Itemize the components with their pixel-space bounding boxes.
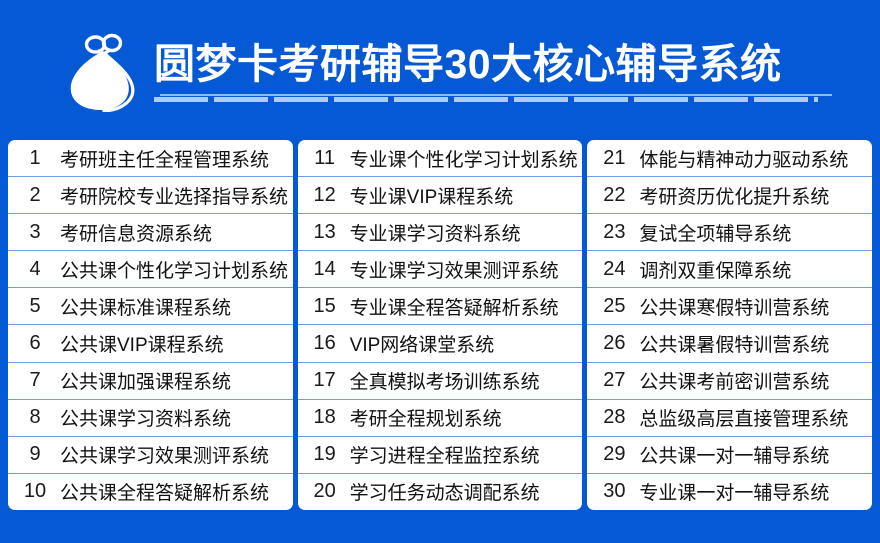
row-label: 公共课暑假特训营系统 bbox=[637, 330, 868, 357]
row-number: 17 bbox=[302, 369, 348, 392]
table-row[interactable]: 8公共课学习资料系统 bbox=[8, 400, 293, 437]
row-number: 13 bbox=[302, 221, 348, 244]
row-label: 专业课学习效果测评系统 bbox=[348, 256, 579, 283]
row-number: 14 bbox=[302, 258, 348, 281]
table-row[interactable]: 28总监级高层直接管理系统 bbox=[587, 400, 872, 437]
table-row[interactable]: 6公共课VIP课程系统 bbox=[8, 325, 293, 362]
row-number: 15 bbox=[302, 295, 348, 318]
footer-band bbox=[0, 510, 880, 543]
table-row[interactable]: 30专业课一对一辅导系统 bbox=[587, 474, 872, 510]
row-number: 26 bbox=[591, 332, 637, 355]
row-number: 4 bbox=[12, 258, 58, 281]
table-row[interactable]: 10公共课全程答疑解析系统 bbox=[8, 474, 293, 510]
row-number: 22 bbox=[591, 184, 637, 207]
systems-column-1: 1考研班主任全程管理系统 2考研院校专业选择指导系统 3考研信息资源系统 4公共… bbox=[8, 140, 293, 510]
title-underline-thin bbox=[160, 94, 832, 96]
title-underline-decoration bbox=[154, 94, 832, 103]
row-number: 24 bbox=[591, 258, 637, 281]
table-row[interactable]: 19学习进程全程监控系统 bbox=[298, 437, 583, 474]
row-label: 公共课一对一辅导系统 bbox=[637, 441, 868, 468]
row-label: 学习进程全程监控系统 bbox=[348, 441, 579, 468]
table-row[interactable]: 11专业课个性化学习计划系统 bbox=[298, 140, 583, 177]
table-row[interactable]: 24调剂双重保障系统 bbox=[587, 251, 872, 288]
table-row[interactable]: 9公共课学习效果测评系统 bbox=[8, 437, 293, 474]
table-row[interactable]: 4公共课个性化学习计划系统 bbox=[8, 251, 293, 288]
row-label: 公共课考前密训营系统 bbox=[637, 367, 868, 394]
row-number: 8 bbox=[12, 406, 58, 429]
row-number: 21 bbox=[591, 147, 637, 170]
row-number: 18 bbox=[302, 406, 348, 429]
row-label: 公共课学习效果测评系统 bbox=[58, 441, 289, 468]
row-number: 3 bbox=[12, 221, 58, 244]
row-label: 复试全项辅导系统 bbox=[637, 219, 868, 246]
row-label: 考研信息资源系统 bbox=[58, 219, 289, 246]
row-number: 2 bbox=[12, 184, 58, 207]
table-row[interactable]: 29公共课一对一辅导系统 bbox=[587, 437, 872, 474]
table-row[interactable]: 17全真模拟考场训练系统 bbox=[298, 363, 583, 400]
row-number: 12 bbox=[302, 184, 348, 207]
row-label: 体能与精神动力驱动系统 bbox=[637, 145, 868, 172]
page-header: 圆梦卡考研辅导30大核心辅导系统 bbox=[0, 0, 880, 140]
row-label: 公共课学习资料系统 bbox=[58, 404, 289, 431]
table-row[interactable]: 26公共课暑假特训营系统 bbox=[587, 325, 872, 362]
money-bag-icon bbox=[68, 32, 142, 112]
row-label: 学习任务动态调配系统 bbox=[348, 478, 579, 505]
table-row[interactable]: 22考研资历优化提升系统 bbox=[587, 177, 872, 214]
row-number: 28 bbox=[591, 406, 637, 429]
row-label: 考研班主任全程管理系统 bbox=[58, 145, 289, 172]
table-row[interactable]: 16VIP网络课堂系统 bbox=[298, 325, 583, 362]
table-row[interactable]: 23复试全项辅导系统 bbox=[587, 214, 872, 251]
row-number: 20 bbox=[302, 480, 348, 503]
row-label: 公共课全程答疑解析系统 bbox=[58, 478, 289, 505]
row-number: 9 bbox=[12, 443, 58, 466]
systems-table: 1考研班主任全程管理系统 2考研院校专业选择指导系统 3考研信息资源系统 4公共… bbox=[0, 140, 880, 510]
row-number: 6 bbox=[12, 332, 58, 355]
row-number: 16 bbox=[302, 332, 348, 355]
row-label: 调剂双重保障系统 bbox=[637, 256, 868, 283]
title-block: 圆梦卡考研辅导30大核心辅导系统 bbox=[154, 38, 832, 103]
row-label: 专业课学习资料系统 bbox=[348, 219, 579, 246]
systems-column-3: 21体能与精神动力驱动系统 22考研资历优化提升系统 23复试全项辅导系统 24… bbox=[587, 140, 872, 510]
row-label: 专业课个性化学习计划系统 bbox=[348, 145, 579, 172]
table-row[interactable]: 1考研班主任全程管理系统 bbox=[8, 140, 293, 177]
row-number: 27 bbox=[591, 369, 637, 392]
row-number: 11 bbox=[302, 147, 348, 170]
row-label: 考研全程规划系统 bbox=[348, 404, 579, 431]
row-label: 专业课一对一辅导系统 bbox=[637, 478, 868, 505]
row-number: 7 bbox=[12, 369, 58, 392]
table-row[interactable]: 7公共课加强课程系统 bbox=[8, 363, 293, 400]
table-row[interactable]: 12专业课VIP课程系统 bbox=[298, 177, 583, 214]
row-label: 总监级高层直接管理系统 bbox=[637, 404, 868, 431]
row-label: 专业课VIP课程系统 bbox=[348, 182, 579, 209]
row-number: 10 bbox=[12, 480, 58, 503]
row-label: 公共课个性化学习计划系统 bbox=[58, 256, 289, 283]
row-label: VIP网络课堂系统 bbox=[348, 330, 579, 357]
row-number: 5 bbox=[12, 295, 58, 318]
page-title: 圆梦卡考研辅导30大核心辅导系统 bbox=[154, 40, 832, 88]
row-label: 公共课加强课程系统 bbox=[58, 367, 289, 394]
table-row[interactable]: 20学习任务动态调配系统 bbox=[298, 474, 583, 510]
row-label: 全真模拟考场训练系统 bbox=[348, 367, 579, 394]
table-row[interactable]: 15专业课全程答疑解析系统 bbox=[298, 288, 583, 325]
table-row[interactable]: 13专业课学习资料系统 bbox=[298, 214, 583, 251]
table-row[interactable]: 18考研全程规划系统 bbox=[298, 400, 583, 437]
table-row[interactable]: 21体能与精神动力驱动系统 bbox=[587, 140, 872, 177]
table-row[interactable]: 3考研信息资源系统 bbox=[8, 214, 293, 251]
row-number: 30 bbox=[591, 480, 637, 503]
table-row[interactable]: 27公共课考前密训营系统 bbox=[587, 363, 872, 400]
table-row[interactable]: 25公共课寒假特训营系统 bbox=[587, 288, 872, 325]
row-label: 专业课全程答疑解析系统 bbox=[348, 293, 579, 320]
row-number: 29 bbox=[591, 443, 637, 466]
row-label: 公共课VIP课程系统 bbox=[58, 330, 289, 357]
row-label: 公共课标准课程系统 bbox=[58, 293, 289, 320]
row-label: 公共课寒假特训营系统 bbox=[637, 293, 868, 320]
row-number: 25 bbox=[591, 295, 637, 318]
systems-column-2: 11专业课个性化学习计划系统 12专业课VIP课程系统 13专业课学习资料系统 … bbox=[298, 140, 583, 510]
table-row[interactable]: 2考研院校专业选择指导系统 bbox=[8, 177, 293, 214]
table-row[interactable]: 5公共课标准课程系统 bbox=[8, 288, 293, 325]
row-number: 23 bbox=[591, 221, 637, 244]
table-row[interactable]: 14专业课学习效果测评系统 bbox=[298, 251, 583, 288]
row-label: 考研资历优化提升系统 bbox=[637, 182, 868, 209]
title-underline-dashed bbox=[154, 97, 818, 102]
row-label: 考研院校专业选择指导系统 bbox=[58, 182, 289, 209]
row-number: 1 bbox=[12, 147, 58, 170]
row-number: 19 bbox=[302, 443, 348, 466]
